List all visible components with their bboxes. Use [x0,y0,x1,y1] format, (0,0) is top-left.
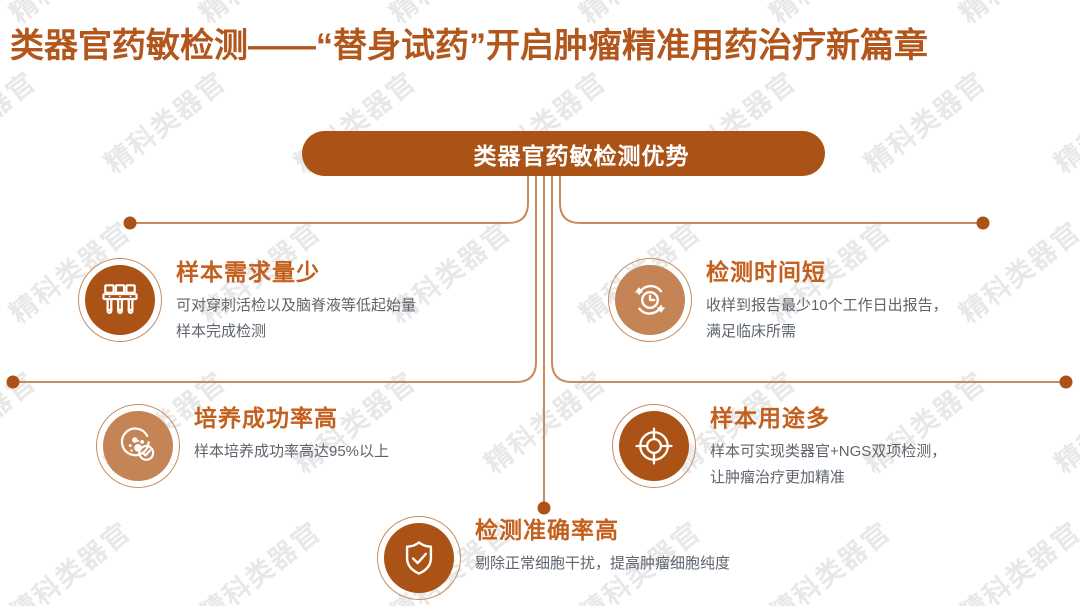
crosshair-target-icon [632,424,676,468]
feature-text: 样本需求量少 可对穿刺活检以及脑脊液等低起始量 样本完成检测 [162,258,416,345]
watermark-text: 精科类器官 [0,511,138,606]
feature-body-line: 可对穿刺活检以及脑脊液等低起始量 [176,293,416,319]
feature-detection-accuracy: 检测准确率高 剔除正常细胞干扰，提高肿瘤细胞纯度 [377,516,730,600]
connector-dot-top-right [977,217,990,230]
infographic-root: 精科类器官精科类器官精科类器官精科类器官精科类器官精科类器官精科类器官精科类器官… [0,0,1080,606]
feature-text: 培养成功率高 样本培养成功率高达95%以上 [180,404,389,465]
watermark-text: 精科类器官 [760,511,898,606]
watermark-text: 精科类器官 [190,511,328,606]
test-tube-rack-icon [98,278,142,322]
feature-text: 检测时间短 收样到报告最少10个工作日出报告， 满足临床所需 [692,258,948,345]
watermark-text: 精科类器官 [0,361,43,481]
watermark-text: 精科类器官 [950,211,1080,331]
feature-heading: 样本需求量少 [176,260,416,286]
connector-dot-mid-left [7,376,20,389]
feature-badge [78,258,162,342]
feature-heading: 样本用途多 [710,406,946,432]
feature-heading: 检测准确率高 [475,518,730,544]
feature-turnaround-time: 检测时间短 收样到报告最少10个工作日出报告， 满足临床所需 [608,258,948,345]
feature-badge [608,258,692,342]
watermark-text: 精科类器官 [950,511,1080,606]
feature-body-line: 满足临床所需 [706,319,948,345]
feature-body-line: 剔除正常细胞干扰，提高肿瘤细胞纯度 [475,551,730,577]
feature-sample-versatility: 样本用途多 样本可实现类器官+NGS双项检测， 让肿瘤治疗更加精准 [612,404,946,491]
shield-check-icon [397,536,441,580]
feature-culture-success-rate: 培养成功率高 样本培养成功率高达95%以上 [96,404,389,488]
watermark-text: 精科类器官 [0,61,43,181]
feature-heading: 培养成功率高 [194,406,389,432]
feature-body-line: 收样到报告最少10个工作日出报告， [706,293,948,319]
feature-body-line: 样本完成检测 [176,319,416,345]
feature-badge [612,404,696,488]
watermark-text: 精科类器官 [475,361,613,481]
feature-text: 样本用途多 样本可实现类器官+NGS双项检测， 让肿瘤治疗更加精准 [696,404,946,491]
petri-dish-check-icon [116,424,160,468]
connector-dot-bottom-center [538,502,551,515]
watermark-text: 精科类器官 [1045,61,1080,181]
clock-refresh-icon [628,278,672,322]
feature-body-line: 样本可实现类器官+NGS双项检测， [710,439,946,465]
connector-dot-mid-right [1060,376,1073,389]
feature-body-line: 让肿瘤治疗更加精准 [710,465,946,491]
watermark-text: 精科类器官 [855,61,993,181]
advantages-banner: 类器官药敏检测优势 [302,131,825,176]
feature-body-line: 样本培养成功率高达95%以上 [194,439,389,465]
feature-badge [377,516,461,600]
feature-sample-requirement: 样本需求量少 可对穿刺活检以及脑脊液等低起始量 样本完成检测 [78,258,416,345]
feature-heading: 检测时间短 [706,260,948,286]
page-title: 类器官药敏检测——“替身试药”开启肿瘤精准用药治疗新篇章 [10,18,1072,67]
watermark-text: 精科类器官 [1045,361,1080,481]
feature-text: 检测准确率高 剔除正常细胞干扰，提高肿瘤细胞纯度 [461,516,730,577]
feature-badge [96,404,180,488]
watermark-text: 精科类器官 [95,61,233,181]
connector-dot-top-left [124,217,137,230]
advantages-banner-label: 类器官药敏检测优势 [438,137,690,171]
